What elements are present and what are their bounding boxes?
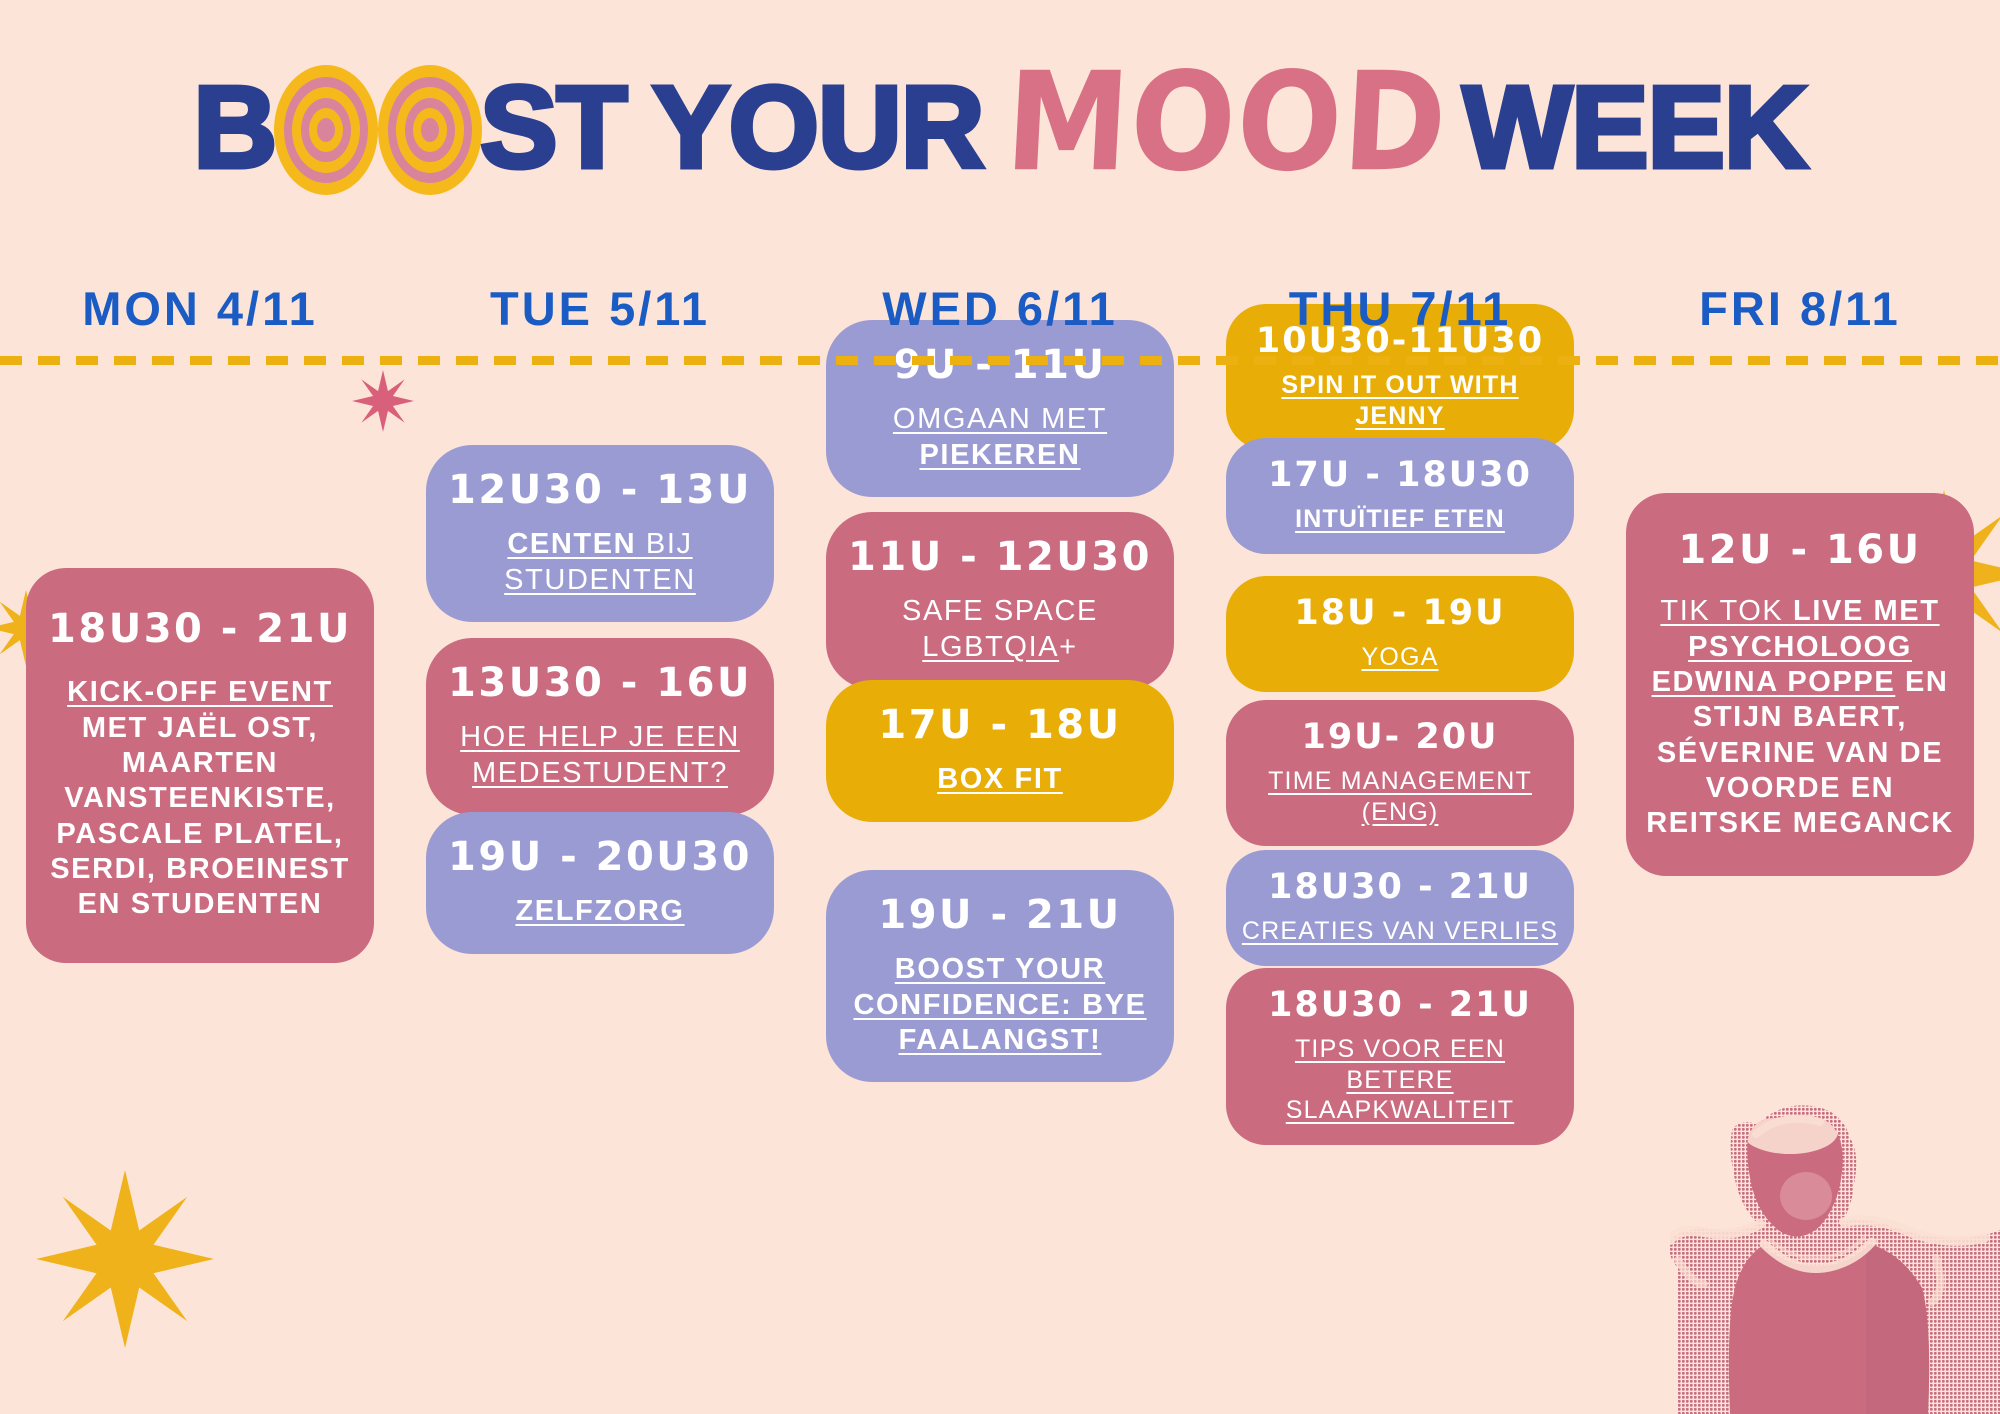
event-description: BOX FIT [844,762,1156,797]
event-card[interactable]: 12U - 16U TIK TOK LIVE MET PSYCHOLOOG ED… [1626,493,1974,876]
title-letter-b: B [193,69,276,185]
event-title: TIPS VOOR EEN BETERE SLAAPKWALITEIT [1286,1035,1514,1124]
event-title: KICK-OFF EVENT [67,676,333,708]
event-title: YOGA [1361,643,1438,671]
event-time: 17U - 18U30 [1240,455,1560,496]
event-card[interactable]: 17U - 18U BOX FIT [826,680,1174,822]
event-card[interactable]: 18U30 - 21U KICK-OFF EVENT MET JAËL OST,… [26,568,374,963]
event-title: BOOST YOUR CONFIDENCE: BYE FAALANGST! [853,953,1146,1056]
event-description: KICK-OFF EVENT MET JAËL OST, MAARTEN VAN… [42,675,358,923]
day-column-tue: 12U30 - 13U CENTEN BIJ STUDENTEN 13U30 -… [400,380,800,1414]
day-column-wed: 9U - 11U OMGAAN MET PIEKEREN 11U - 12U30… [800,380,1200,1414]
event-time: 19U - 20U30 [444,834,756,881]
event-title: SAFE SPACE [902,595,1098,627]
event-title: TIME MANAGEMENT (ENG) [1268,767,1532,826]
event-card[interactable]: 19U - 21U BOOST YOUR CONFIDENCE: BYE FAA… [826,870,1174,1082]
event-time: 18U30 - 21U [42,606,358,653]
event-suffix: + [1059,631,1078,663]
day-header-mon: MON 4/11 [0,277,400,341]
event-subtitle: PIEKEREN [919,439,1080,471]
event-time: 13U30 - 16U [444,660,756,707]
event-description: SAFE SPACE LGBTQIA+ [844,594,1156,665]
event-description: YOGA [1240,642,1560,673]
schedule-grid: 18U30 - 21U KICK-OFF EVENT MET JAËL OST,… [0,380,2000,1414]
event-time: 18U30 - 21U [1240,867,1560,908]
event-card[interactable]: 9U - 11U OMGAAN MET PIEKEREN [826,320,1174,497]
title-boost-rest: ST [480,69,626,185]
poster-canvas: B ST YOUR MOOD WEEK MO [0,0,2000,1414]
day-header-fri: FRI 8/11 [1600,277,2000,341]
day-column-thu: 10U30-11U30 SPIN IT OUT WITH JENNY 17U -… [1200,380,1600,1414]
event-card[interactable]: 19U- 20U TIME MANAGEMENT (ENG) [1226,700,1574,846]
event-title: TIK TOK [1660,595,1793,627]
day-header-thu: THU 7/11 [1200,277,1600,341]
title-target-double-o [274,65,482,195]
event-description: ZELFZORG [444,894,756,929]
event-description: SPIN IT OUT WITH JENNY [1240,370,1560,431]
event-card[interactable]: 12U30 - 13U CENTEN BIJ STUDENTEN [426,445,774,622]
day-header-wed: WED 6/11 [800,277,1200,341]
event-description: CENTEN BIJ STUDENTEN [444,527,756,598]
target-circle-icon [274,65,378,195]
title-week: WEEK [1463,69,1807,185]
event-description: OMGAAN MET PIEKEREN [844,402,1156,473]
event-title: OMGAAN MET [893,403,1107,435]
event-subtitle: MET JAËL OST, MAARTEN VANSTEENKISTE, PAS… [50,712,350,921]
target-circle-icon [378,65,482,195]
event-description: TIK TOK LIVE MET PSYCHOLOOG EDWINA POPPE… [1642,594,1958,842]
event-description: TIME MANAGEMENT (ENG) [1240,766,1560,827]
event-card[interactable]: 17U - 18U30 INTUÏTIEF ETEN [1226,438,1574,554]
event-time: 12U - 16U [1642,527,1958,574]
title-your: YOUR [652,69,983,185]
day-header-tue: TUE 5/11 [400,277,800,341]
event-time: 19U - 21U [844,892,1156,939]
day-header-row: MON 4/11 TUE 5/11 WED 6/11 THU 7/11 FRI … [0,277,2000,341]
event-title: BOX FIT [937,763,1063,795]
event-title: ZELFZORG [515,895,684,927]
event-title: CENTEN [507,528,636,560]
day-column-mon: 18U30 - 21U KICK-OFF EVENT MET JAËL OST,… [0,380,400,1414]
event-description: BOOST YOUR CONFIDENCE: BYE FAALANGST! [844,952,1156,1058]
event-description: INTUÏTIEF ETEN [1240,504,1560,535]
event-time: 9U - 11U [844,342,1156,389]
event-title: CREATIES VAN VERLIES [1242,917,1558,945]
event-description: TIPS VOOR EEN BETERE SLAAPKWALITEIT [1240,1034,1560,1126]
event-title: INTUÏTIEF ETEN [1295,505,1505,533]
title-mood: MOOD [1002,55,1450,191]
event-card[interactable]: 11U - 12U30 SAFE SPACE LGBTQIA+ [826,512,1174,689]
event-time: 19U- 20U [1240,717,1560,758]
event-card[interactable]: 18U30 - 21U CREATIES VAN VERLIES [1226,850,1574,966]
page-title: B ST YOUR MOOD WEEK [0,62,2000,192]
event-title: SPIN IT OUT WITH JENNY [1281,371,1518,430]
event-card[interactable]: 19U - 20U30 ZELFZORG [426,812,774,954]
event-card[interactable]: 18U - 19U YOGA [1226,576,1574,692]
event-card[interactable]: 18U30 - 21U TIPS VOOR EEN BETERE SLAAPKW… [1226,968,1574,1145]
event-time: 18U - 19U [1240,593,1560,634]
event-time: 17U - 18U [844,702,1156,749]
event-description: HOE HELP JE EEN MEDESTUDENT? [444,720,756,791]
event-time: 11U - 12U30 [844,534,1156,581]
dashed-divider [0,356,2000,365]
event-time: 18U30 - 21U [1240,985,1560,1026]
event-description: CREATIES VAN VERLIES [1240,916,1560,947]
event-card[interactable]: 13U30 - 16U HOE HELP JE EEN MEDESTUDENT? [426,638,774,815]
event-title: HOE HELP JE EEN MEDESTUDENT? [460,721,740,788]
event-time: 12U30 - 13U [444,467,756,514]
event-subtitle: LGBTQIA [922,631,1059,663]
day-column-fri: 12U - 16U TIK TOK LIVE MET PSYCHOLOOG ED… [1600,380,2000,1414]
